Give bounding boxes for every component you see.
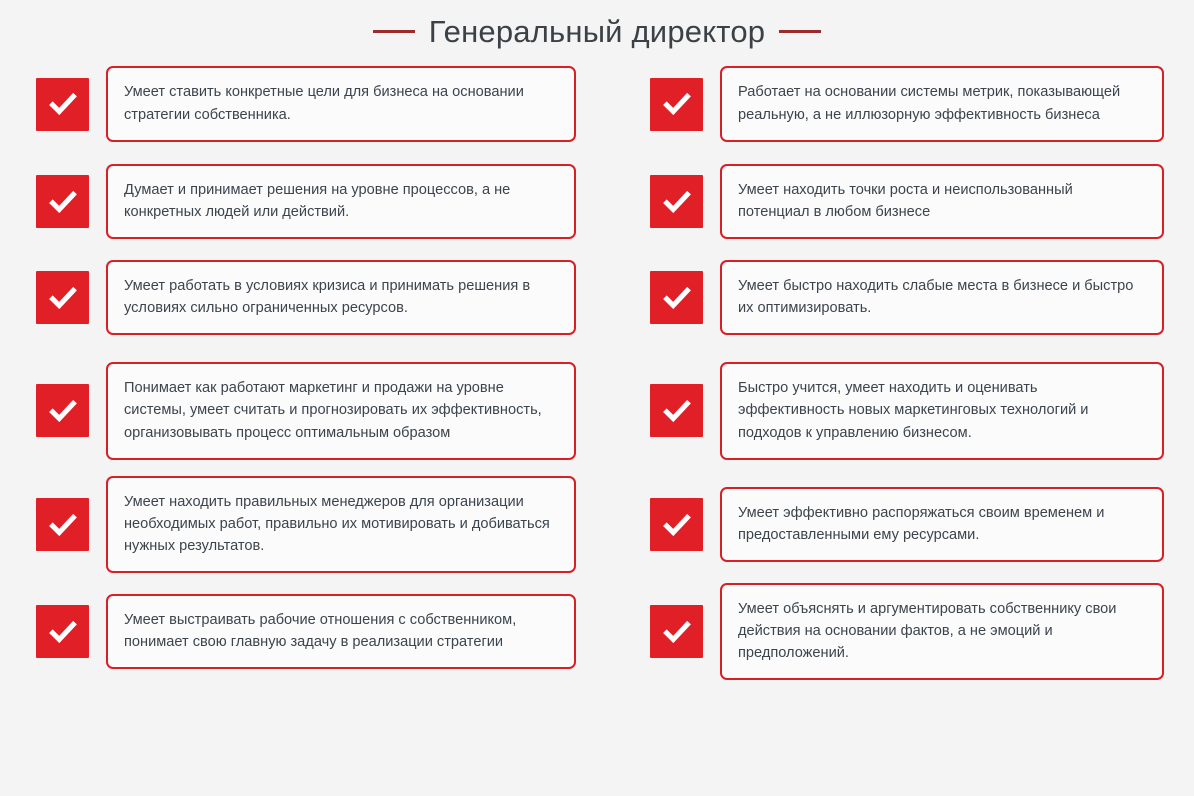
competency-text: Умеет ставить конкретные цели для бизнес… — [124, 81, 558, 125]
list-item[interactable]: Умеет выстраивать рабочие отношения с со… — [36, 587, 576, 694]
checkmark-icon — [36, 384, 89, 437]
competency-card: Умеет быстро находить слабые места в биз… — [720, 260, 1164, 335]
competency-text: Быстро учится, умеет находить и оцениват… — [738, 377, 1146, 444]
competency-text: Умеет эффективно распоряжаться своим вре… — [738, 502, 1146, 546]
checkmark-icon — [36, 271, 89, 324]
checkmark-icon — [650, 384, 703, 437]
competency-text: Умеет находить правильных менеджеров для… — [124, 491, 558, 558]
checkmark-icon — [650, 78, 703, 131]
list-item[interactable]: Быстро учится, умеет находить и оцениват… — [650, 360, 1164, 480]
competency-grid: Умеет ставить конкретные цели для бизнес… — [0, 58, 1194, 694]
checkmark-icon — [650, 498, 703, 551]
competency-text: Умеет работать в условиях кризиса и прин… — [124, 275, 558, 319]
competency-card: Думает и принимает решения на уровне про… — [106, 164, 576, 239]
page-header: Генеральный директор — [0, 0, 1194, 58]
competency-column-right: Работает на основании системы метрик, по… — [600, 58, 1164, 694]
list-item[interactable]: Умеет ставить конкретные цели для бизнес… — [36, 58, 576, 168]
competency-text: Умеет быстро находить слабые места в биз… — [738, 275, 1146, 319]
checkmark-icon — [36, 78, 89, 131]
competency-card: Умеет находить точки роста и неиспользов… — [720, 164, 1164, 239]
competency-card: Умеет работать в условиях кризиса и прин… — [106, 260, 576, 335]
checkmark-icon — [36, 175, 89, 228]
checkmark-icon — [36, 498, 89, 551]
competency-card: Умеет эффективно распоряжаться своим вре… — [720, 487, 1164, 562]
list-item[interactable]: Умеет работать в условиях кризиса и прин… — [36, 253, 576, 360]
page-root: Генеральный директор Умеет ставить конкр… — [0, 0, 1194, 796]
competency-text: Умеет объяснять и аргументировать собств… — [738, 598, 1146, 665]
page-title: Генеральный директор — [429, 16, 766, 47]
list-item[interactable]: Умеет объяснять и аргументировать собств… — [650, 587, 1164, 694]
list-item[interactable]: Думает и принимает решения на уровне про… — [36, 168, 576, 253]
competency-text: Умеет выстраивать рабочие отношения с со… — [124, 609, 558, 653]
competency-card: Умеет выстраивать рабочие отношения с со… — [106, 594, 576, 669]
checkmark-icon — [650, 271, 703, 324]
list-item[interactable]: Понимает как работают маркетинг и продаж… — [36, 360, 576, 480]
competency-card: Быстро учится, умеет находить и оцениват… — [720, 362, 1164, 460]
competency-card: Умеет находить правильных менеджеров для… — [106, 476, 576, 574]
competency-column-left: Умеет ставить конкретные цели для бизнес… — [36, 58, 600, 694]
competency-text: Работает на основании системы метрик, по… — [738, 81, 1146, 125]
list-item[interactable]: Умеет находить правильных менеджеров для… — [36, 480, 576, 587]
checkmark-icon — [36, 605, 89, 658]
competency-text: Думает и принимает решения на уровне про… — [124, 179, 558, 223]
competency-card: Умеет ставить конкретные цели для бизнес… — [106, 66, 576, 141]
list-item[interactable]: Умеет находить точки роста и неиспользов… — [650, 168, 1164, 253]
list-item[interactable]: Работает на основании системы метрик, по… — [650, 58, 1164, 168]
em-dash-rule-left-icon — [373, 30, 415, 33]
list-item[interactable]: Умеет эффективно распоряжаться своим вре… — [650, 480, 1164, 587]
checkmark-icon — [650, 605, 703, 658]
competency-text: Понимает как работают маркетинг и продаж… — [124, 377, 558, 444]
em-dash-rule-right-icon — [779, 30, 821, 33]
competency-text: Умеет находить точки роста и неиспользов… — [738, 179, 1146, 223]
competency-card: Работает на основании системы метрик, по… — [720, 66, 1164, 141]
competency-card: Понимает как работают маркетинг и продаж… — [106, 362, 576, 460]
competency-card: Умеет объяснять и аргументировать собств… — [720, 583, 1164, 681]
checkmark-icon — [650, 175, 703, 228]
list-item[interactable]: Умеет быстро находить слабые места в биз… — [650, 253, 1164, 360]
